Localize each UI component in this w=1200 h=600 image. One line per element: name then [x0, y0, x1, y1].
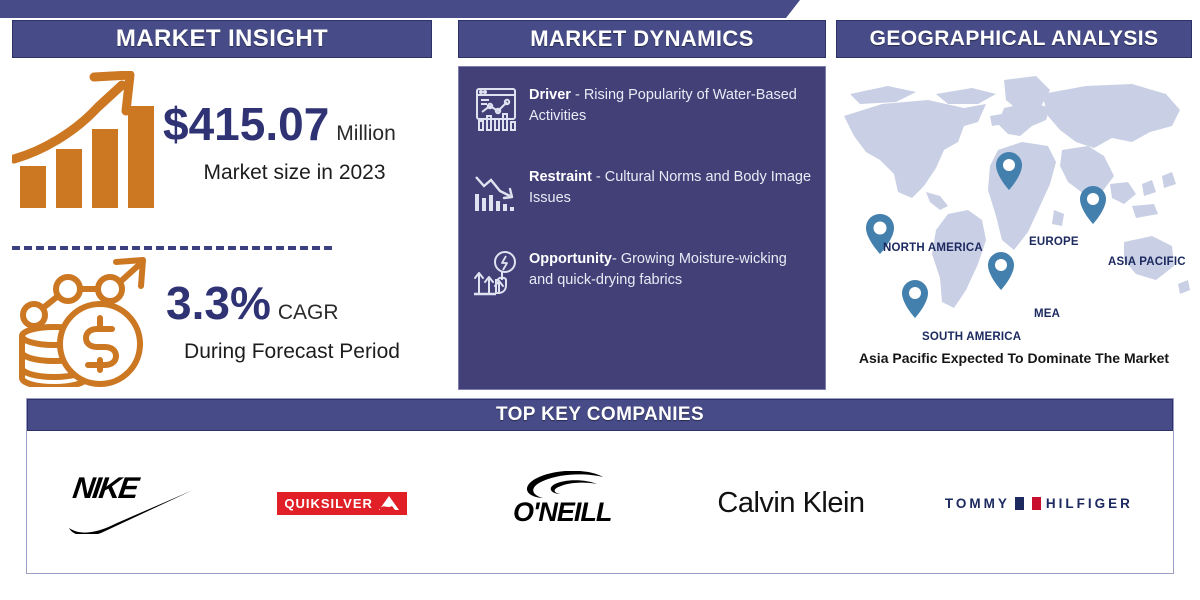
dynamics-item-text: Opportunity- Growing Moisture-wicking an… [525, 245, 813, 290]
tommy-hilfiger-wordmark-left: TOMMY [945, 496, 1010, 511]
quiksilver-wave-mountain-icon [378, 495, 400, 512]
dynamics-item-text: Driver - Rising Popularity of Water-Base… [525, 81, 813, 126]
dynamics-item-separator: - [592, 169, 605, 185]
company-logo-quiksilver[interactable]: QUIKSILVER [277, 468, 407, 538]
dynamics-item-label: Restraint [529, 169, 592, 185]
company-logo-tommy-hilfiger[interactable]: TOMMY HILFIGER [945, 468, 1133, 538]
map-label-north-america: NORTH AMERICA [883, 242, 983, 254]
oneill-wordmark: O'NEILL [487, 497, 637, 528]
map-label-mea: MEA [1034, 308, 1060, 320]
dynamics-item-separator: - [571, 87, 584, 103]
cagr-caption: During Forecast Period [158, 340, 432, 364]
top-key-companies-panel: TOP KEY COMPANIES NIKE QUIKSILVER [26, 398, 1174, 574]
declining-chart-icon [469, 163, 525, 219]
idea-growth-arrows-icon [469, 245, 525, 301]
quiksilver-wordmark: QUIKSILVER [284, 496, 373, 511]
market-dynamics-panel: MARKET DYNAMICS [458, 20, 826, 390]
dynamics-item-text: Restraint - Cultural Norms and Body Imag… [525, 163, 813, 208]
company-logo-row: NIKE QUIKSILVER [27, 433, 1173, 573]
market-size-unit: Million [329, 122, 396, 146]
market-insight-title: MARKET INSIGHT [12, 20, 432, 58]
map-label-europe: EUROPE [1029, 236, 1079, 248]
dynamics-item-label: Driver [529, 87, 571, 103]
pin-mea [988, 252, 1014, 290]
top-key-companies-title: TOP KEY COMPANIES [27, 399, 1173, 431]
market-size-caption: Market size in 2023 [163, 161, 432, 185]
cagr-row: 3.3%CAGR During Forecast Period [12, 252, 432, 392]
market-dynamics-list: Driver - Rising Popularity of Water-Base… [458, 66, 826, 390]
cagr-unit: CAGR [271, 301, 339, 325]
infographic-root: MARKET INSIGHT $415.07Million Market siz… [0, 0, 1200, 600]
dynamics-item-driver: Driver - Rising Popularity of Water-Base… [469, 81, 813, 137]
tommy-hilfiger-wordmark-right: HILFIGER [1046, 496, 1133, 511]
dynamics-item-restraint: Restraint - Cultural Norms and Body Imag… [469, 163, 813, 219]
pin-asia-pacific [1080, 186, 1106, 224]
dynamics-item-label: Opportunity [529, 251, 612, 267]
geo-dominance-note: Asia Pacific Expected To Dominate The Ma… [836, 350, 1192, 366]
cagr-text: 3.3%CAGR During Forecast Period [152, 280, 432, 364]
section-divider-dashed [12, 246, 332, 250]
pin-south-america [902, 280, 928, 318]
market-size-value: $415.07 [163, 101, 329, 147]
map-label-asia-pacific: ASIA PACIFIC [1108, 256, 1186, 268]
top-decorative-banner [0, 0, 800, 18]
company-logo-oneill[interactable]: O'NEILL [487, 468, 637, 538]
map-label-south-america: SOUTH AMERICA [922, 331, 1021, 343]
cagr-value: 3.3% [166, 280, 271, 326]
dashboard-analytics-icon [469, 81, 525, 137]
company-logo-nike[interactable]: NIKE [67, 468, 197, 538]
market-size-row: $415.07Million Market size in 2023 [12, 68, 432, 218]
world-map: NORTH AMERICA EUROPE ASIA PACIFIC MEA SO… [836, 64, 1192, 344]
growth-bar-chart-arrow-icon [12, 71, 157, 216]
market-dynamics-title: MARKET DYNAMICS [458, 20, 826, 58]
market-size-text: $415.07Million Market size in 2023 [157, 101, 432, 185]
tommy-hilfiger-flag-icon [1015, 497, 1041, 510]
dynamics-item-separator: - [612, 251, 621, 267]
dynamics-item-opportunity: Opportunity- Growing Moisture-wicking an… [469, 245, 813, 301]
geographical-analysis-title: GEOGRAPHICAL ANALYSIS [836, 20, 1192, 58]
map-landmasses [844, 76, 1190, 308]
coins-dollar-growth-icon [12, 252, 152, 392]
calvin-klein-wordmark: Calvin Klein [717, 487, 864, 520]
geographical-analysis-panel: GEOGRAPHICAL ANALYSIS [836, 20, 1192, 390]
company-logo-calvin-klein[interactable]: Calvin Klein [717, 468, 864, 538]
market-insight-panel: MARKET INSIGHT $415.07Million Market siz… [12, 20, 432, 390]
nike-swoosh-icon [67, 488, 195, 534]
